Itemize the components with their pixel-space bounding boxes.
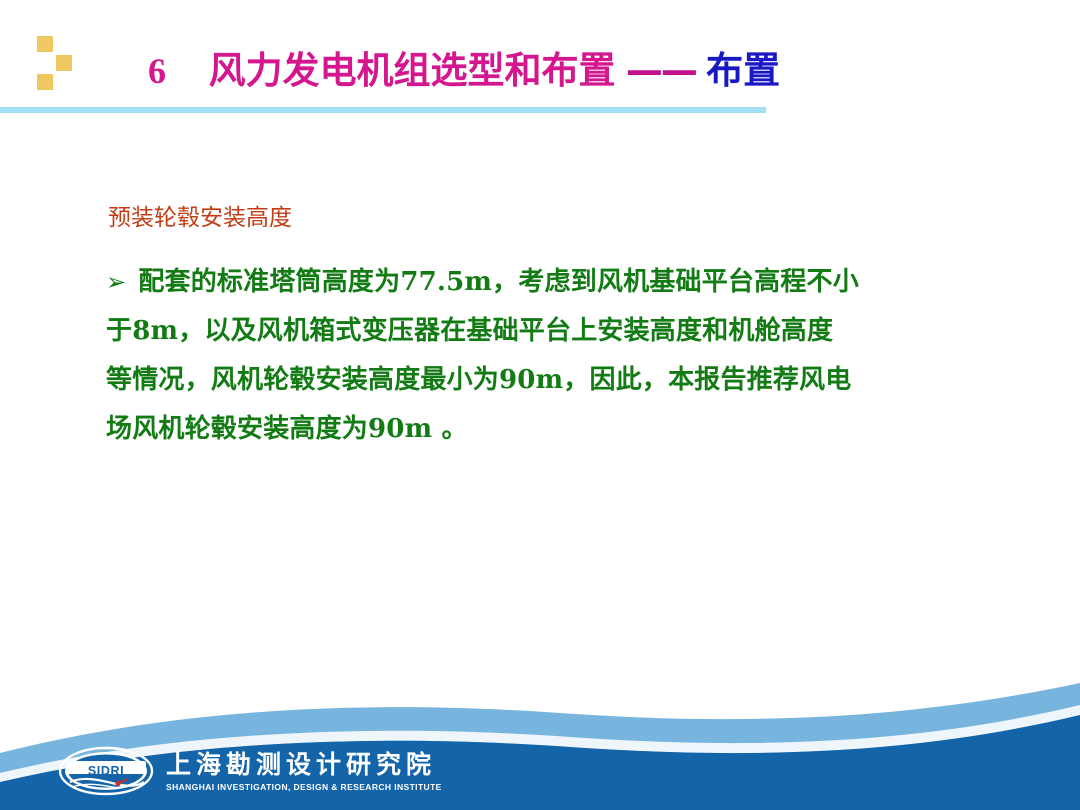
decorative-square-icon (37, 36, 53, 52)
section-subheading: 预装轮毂安装高度 (108, 198, 292, 232)
org-name-cn: 上海勘测设计研究院 (166, 750, 442, 780)
decorative-square-icon (37, 74, 53, 90)
body-line-text: 于8m，以及风机箱式变压器在基础平台上安装高度和机舱高度 (106, 316, 833, 346)
body-line-text: 等情况，风机轮毂安装高度最小为90m，因此，本报告推荐风电 (106, 365, 852, 395)
body-line-text: 场风机轮毂安装高度为90m 。 (106, 414, 468, 444)
body-line: 场风机轮毂安装高度为90m 。 (106, 405, 966, 454)
title-main-text: 风力发电机组选型和布置 (209, 49, 616, 92)
page-title: 6 风力发电机组选型和布置 —— 布置 (148, 44, 978, 98)
sidri-emblem-icon: SIDRI (58, 746, 154, 796)
decorative-squares-group (34, 34, 80, 92)
body-line: 等情况，风机轮毂安装高度最小为90m，因此，本报告推荐风电 (106, 356, 966, 405)
svg-text:SIDRI: SIDRI (88, 764, 124, 778)
body-line: ➢配套的标准塔筒高度为77.5m，考虑到风机基础平台高程不小 (106, 258, 966, 307)
footer-logo-text: 上海勘测设计研究院 SHANGHAI INVESTIGATION, DESIGN… (166, 750, 442, 793)
decorative-square-icon (56, 55, 72, 71)
header-divider (0, 107, 766, 113)
arrow-bullet-icon: ➢ (106, 268, 138, 296)
title-subtopic-text: 布置 (706, 49, 780, 92)
body-text-block: ➢配套的标准塔筒高度为77.5m，考虑到风机基础平台高程不小 于8m，以及风机箱… (106, 258, 966, 454)
footer-logo: SIDRI 上海勘测设计研究院 SHANGHAI INVESTIGATION, … (58, 740, 442, 802)
body-line-text: 配套的标准塔筒高度为77.5m，考虑到风机基础平台高程不小 (138, 267, 859, 297)
body-line: 于8m，以及风机箱式变压器在基础平台上安装高度和机舱高度 (106, 307, 966, 356)
org-name-en: SHANGHAI INVESTIGATION, DESIGN & RESEARC… (166, 781, 442, 793)
title-section-number: 6 (148, 51, 166, 91)
title-dash: —— (626, 49, 696, 92)
slide-canvas: 6 风力发电机组选型和布置 —— 布置 预装轮毂安装高度 ➢配套的标准塔筒高度为… (0, 0, 1080, 810)
